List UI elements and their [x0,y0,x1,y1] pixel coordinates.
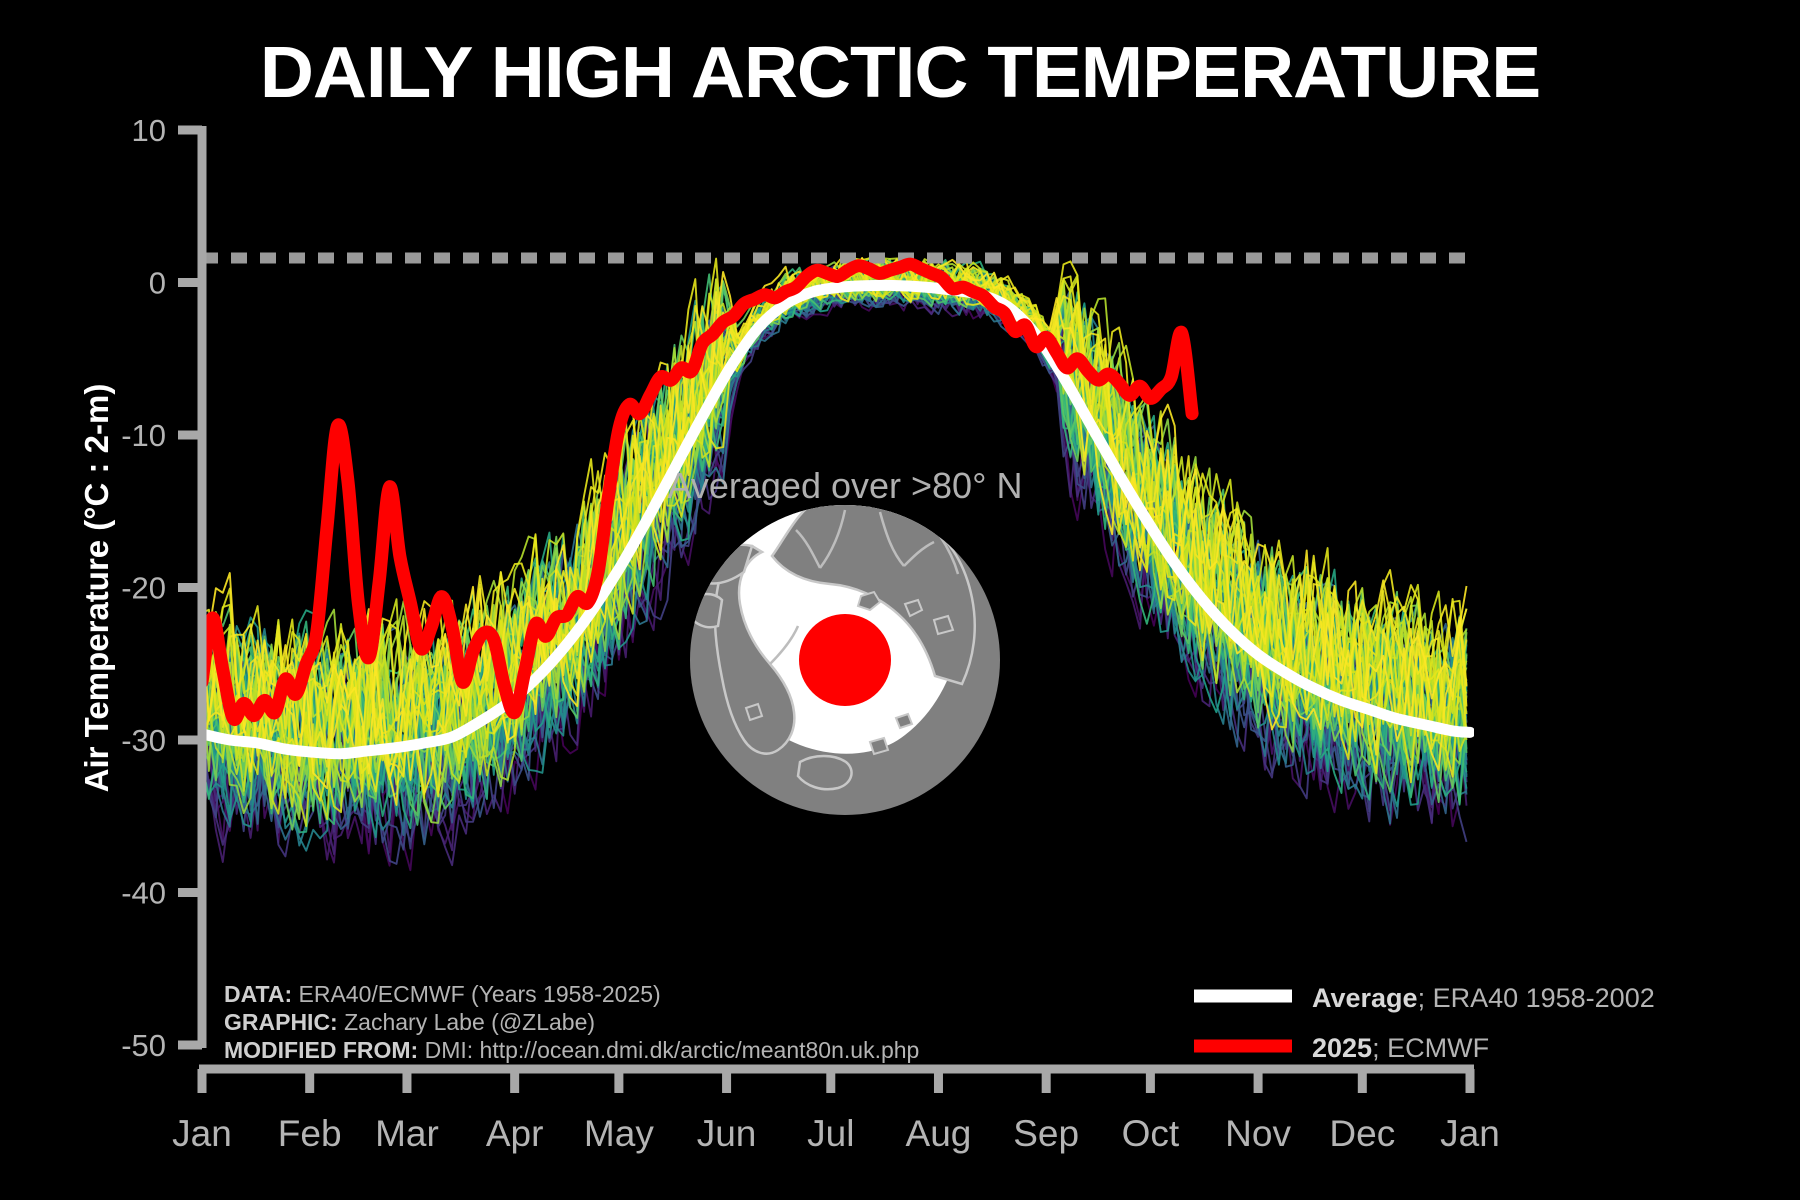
y-tick-label: -20 [121,571,166,606]
y-tick-label: 0 [149,266,166,301]
chart-canvas: 100-10-20-30-40-50 JanFebMarAprMayJunJul… [0,0,1800,1200]
x-tick-label: Sep [1013,1113,1079,1154]
x-tick-label: Dec [1329,1113,1395,1154]
chart-legend: Average; ERA40 1958-20022025; ECMWF [1194,983,1655,1063]
x-axis-ticks: JanFebMarAprMayJunJulAugSepOctNovDecJan [172,1069,1500,1154]
map-annotation-label: Averaged over >80° N [668,465,1023,506]
credits-block: DATA: ERA40/ECMWF (Years 1958-2025)GRAPH… [224,981,919,1063]
x-tick-label: Feb [278,1113,342,1154]
legend-label: 2025; ECMWF [1312,1033,1489,1063]
x-tick-label: Oct [1122,1113,1180,1154]
map-highlight-circle [799,614,891,706]
y-tick-label: 10 [132,113,166,148]
x-tick-label: Aug [906,1113,972,1154]
y-tick-label: -40 [121,876,166,911]
y-axis-ticks: 100-10-20-30-40-50 [121,113,202,1063]
x-tick-label: Jan [1440,1113,1500,1154]
arctic-map-inset [688,498,1000,815]
y-axis-label: Air Temperature (°C : 2-m) [78,384,115,793]
credit-line: DATA: ERA40/ECMWF (Years 1958-2025) [224,981,661,1007]
x-tick-label: Apr [486,1113,544,1154]
y-tick-label: -50 [121,1028,166,1063]
x-tick-label: Jan [172,1113,232,1154]
credit-line: MODIFIED FROM: DMI: http://ocean.dmi.dk/… [224,1037,919,1063]
x-tick-label: Nov [1225,1113,1291,1154]
x-tick-label: Jul [807,1113,854,1154]
x-tick-label: Mar [375,1113,439,1154]
y-tick-label: -30 [121,723,166,758]
legend-label: Average; ERA40 1958-2002 [1312,983,1655,1013]
y-tick-label: -10 [121,418,166,453]
x-tick-label: Jun [697,1113,757,1154]
credit-line: GRAPHIC: Zachary Labe (@ZLabe) [224,1009,595,1035]
x-tick-label: May [584,1113,654,1154]
